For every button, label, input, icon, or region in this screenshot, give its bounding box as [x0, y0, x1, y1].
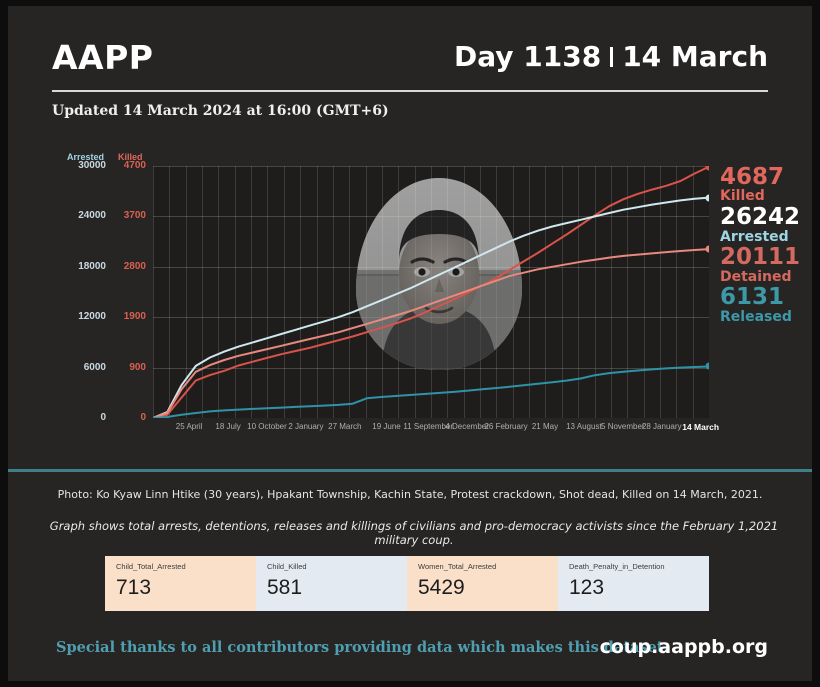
x-tick-label: 21 May: [532, 422, 558, 431]
callout-released: 6131 Released: [720, 286, 820, 324]
brand-title: AAPP: [52, 38, 153, 77]
stat-card-key: Child_Killed: [267, 563, 396, 571]
callout-killed: 4687 Killed: [720, 166, 820, 204]
x-tick-label: 14 March: [682, 422, 719, 432]
stat-card-value: 713: [116, 576, 245, 600]
updated-timestamp: Updated 14 March 2024 at 16:00 (GMT+6): [52, 103, 389, 119]
thanks-text: Special thanks to all contributors provi…: [56, 639, 669, 656]
stat-card-key: Child_Total_Arrested: [116, 563, 245, 571]
stat-card-value: 123: [569, 576, 698, 600]
stat-card: Women_Total_Arrested5429: [407, 556, 558, 611]
callout-arrested-value: 26242: [720, 206, 820, 229]
stat-cards: Child_Total_Arrested713Child_Killed581Wo…: [105, 556, 709, 611]
summary-callouts: 4687 Killed 26242 Arrested 20111 Detaine…: [720, 166, 820, 327]
stat-card-value: 581: [267, 576, 396, 600]
callout-released-label: Released: [720, 310, 820, 325]
stat-card: Child_Total_Arrested713: [105, 556, 256, 611]
website-url[interactable]: coup.aappb.org: [600, 636, 768, 658]
callout-killed-label: Killed: [720, 189, 820, 204]
series-line-killed: [153, 167, 709, 418]
stat-card-value: 5429: [418, 576, 547, 600]
callout-detained-value: 20111: [720, 246, 820, 269]
y-tick-left-24000: 24000: [52, 210, 106, 221]
day-separator-icon: [610, 47, 613, 67]
x-tick-label: 27 March: [328, 422, 361, 431]
chart: Arrested Killed 060001200018000240003000…: [52, 152, 782, 442]
callout-arrested: 26242 Arrested: [720, 206, 820, 244]
endpoint-arrested: [706, 194, 710, 201]
x-tick-label: 26 February: [484, 422, 527, 431]
series-line-released: [153, 367, 709, 419]
day-counter: Day 1138 14 March: [454, 40, 768, 73]
poster: AAPP Day 1138 14 March Updated 14 March …: [8, 6, 812, 681]
header: AAPP Day 1138 14 March: [52, 36, 768, 94]
y-tick-left-0: 0: [52, 412, 106, 423]
y-tick-right-1900: 1900: [112, 311, 146, 322]
x-tick-label: 13 August: [566, 422, 602, 431]
x-tick-label: 10 October: [247, 422, 287, 431]
date-label: 14 March: [622, 40, 768, 73]
x-tick-label: 4 December: [445, 422, 489, 431]
header-rule: [52, 90, 768, 92]
callout-detained-label: Detained: [720, 270, 820, 285]
stat-card: Child_Killed581: [256, 556, 407, 611]
callout-released-value: 6131: [720, 286, 820, 309]
x-tick-label: 25 April: [176, 422, 203, 431]
callout-detained: 20111 Detained: [720, 246, 820, 284]
section-divider: [8, 469, 812, 472]
callout-killed-value: 4687: [720, 166, 820, 189]
y-tick-left-12000: 12000: [52, 311, 106, 322]
stat-card-key: Women_Total_Arrested: [418, 563, 547, 571]
series-lines: [153, 166, 709, 418]
y-tick-left-30000: 30000: [52, 160, 106, 171]
x-tick-label: 18 July: [215, 422, 240, 431]
x-axis-labels: 25 April18 July10 October2 January27 Mar…: [153, 422, 709, 440]
stat-card: Death_Penalty_in_Detention123: [558, 556, 709, 611]
y-tick-left-18000: 18000: [52, 261, 106, 272]
y-tick-right-0: 0: [112, 412, 146, 423]
endpoint-detained: [706, 246, 710, 253]
x-tick-label: 2 January: [288, 422, 323, 431]
y-tick-right-900: 900: [112, 362, 146, 373]
y-tick-right-3700: 3700: [112, 210, 146, 221]
photo-caption: Photo: Ko Kyaw Linn Htike (30 years), Hp…: [8, 488, 812, 501]
x-tick-label: 5 November: [601, 422, 645, 431]
endpoint-released: [706, 363, 710, 370]
series-line-arrested: [153, 198, 709, 418]
graph-caption: Graph shows total arrests, detentions, r…: [44, 519, 784, 547]
callout-arrested-label: Arrested: [720, 230, 820, 245]
endpoint-killed: [706, 166, 710, 170]
stat-card-key: Death_Penalty_in_Detention: [569, 563, 698, 571]
x-tick-label: 19 June: [372, 422, 400, 431]
plot-area: [153, 166, 709, 418]
y-tick-right-2800: 2800: [112, 261, 146, 272]
x-tick-label: 28 January: [642, 422, 682, 431]
y-tick-left-6000: 6000: [52, 362, 106, 373]
day-label: Day 1138: [454, 40, 601, 73]
y-tick-right-4700: 4700: [112, 160, 146, 171]
